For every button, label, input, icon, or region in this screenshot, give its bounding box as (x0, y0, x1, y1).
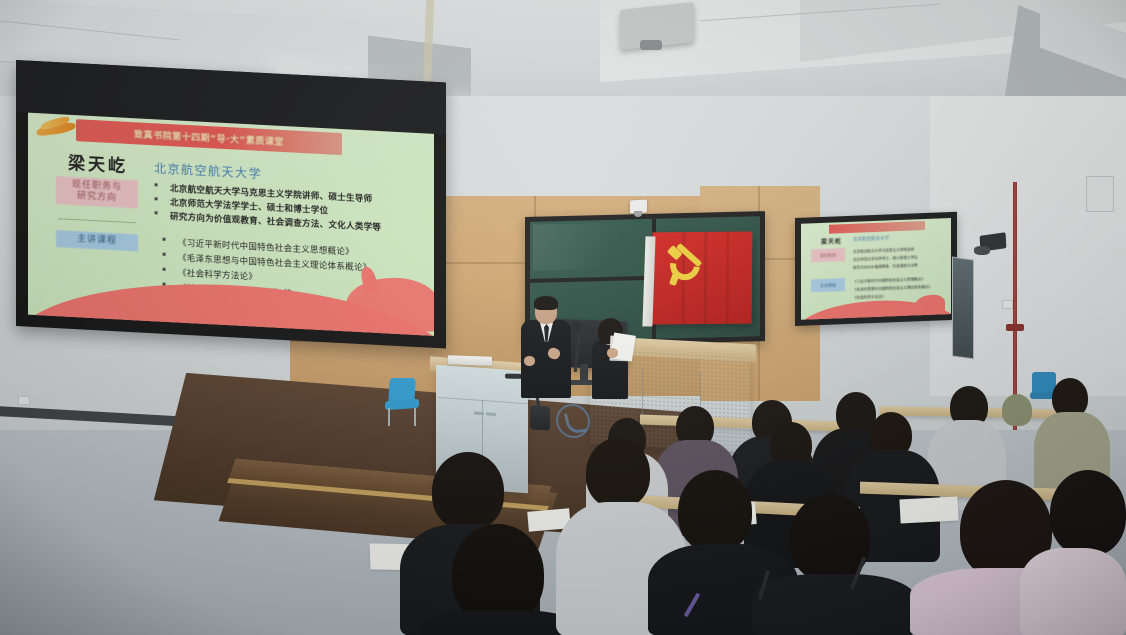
flag-hoist (642, 236, 655, 326)
chalkboard-glare (533, 222, 643, 271)
institution-logo-icon (34, 115, 78, 141)
secondary-projection-screen[interactable]: 梁天屹 北京航空航天大学 现任职务 主讲课程 北京航空航天大学马克思主义学院讲师… (795, 212, 957, 326)
secondary-slide-banner (829, 221, 925, 234)
lecture-hall-photo: 致真书院第十四期“导·大”素质课堂 梁天屹 北京航空航天大学 现任职务与 研究方… (0, 0, 1126, 635)
blue-chair[interactable] (385, 378, 419, 418)
slide-banner-text: 致真书院第十四期“导·大”素质课堂 (134, 127, 284, 148)
power-outlet (18, 396, 30, 406)
microphone-icon (572, 322, 581, 333)
slide-divider (58, 218, 136, 223)
power-outlet (1002, 300, 1013, 309)
secondary-speaker-affiliation: 北京航空航天大学 (853, 235, 889, 242)
secondary-tag-position: 现任职务 (811, 248, 845, 262)
secondary-course-bullet: 《习近平新时代中国特色社会主义思想概论》 (853, 277, 925, 285)
pipe-valve (1006, 324, 1024, 331)
tag-courses: 主讲课程 (56, 230, 138, 251)
secondary-slide-decoration (915, 294, 945, 313)
speaker-name: 梁天屹 (68, 149, 128, 177)
hammer-and-sickle-icon (666, 246, 708, 286)
secondary-course-bullet: 《毛泽东思想与中国特色社会主义理论体系概论》 (853, 285, 932, 293)
tag-position: 现任职务与 研究方向 (56, 176, 138, 208)
notebook-paper (899, 496, 958, 523)
slide-decoration-shape (346, 275, 434, 332)
wall-speaker-cone (974, 246, 990, 255)
presentation-slide: 致真书院第十四期“导·大”素质课堂 梁天屹 北京航空航天大学 现任职务与 研究方… (28, 113, 434, 336)
course-bullet: 《社会科学方法论》 (178, 266, 257, 282)
secondary-bio-bullet: 北京师范大学法学学士、硕士和博士学位 (853, 255, 918, 262)
camera-dome (634, 211, 642, 217)
book-on-cabinet (448, 355, 492, 366)
sprinkler-pipe (1013, 182, 1017, 430)
microphone-base (530, 405, 550, 430)
speaker-affiliation: 北京航空航天大学 (154, 159, 262, 182)
wall-window (952, 256, 974, 359)
projector-lens (640, 40, 662, 50)
party-flag (652, 232, 753, 325)
wall-panel-box (1086, 176, 1114, 212)
secondary-bio-bullet: 研究方向为价值观教育、社会调查方法等 (853, 263, 918, 270)
secondary-speaker-name: 梁天屹 (821, 236, 842, 246)
secondary-bio-bullet: 北京航空航天大学马克思主义学院讲师 (853, 247, 914, 254)
secondary-tag-courses: 主讲课程 (811, 278, 845, 292)
main-projection-screen[interactable]: 致真书院第十四期“导·大”素质课堂 梁天屹 北京航空航天大学 现任职务与 研究方… (16, 60, 446, 349)
secondary-slide: 梁天屹 北京航空航天大学 现任职务 主讲课程 北京航空航天大学马克思主义学院讲师… (801, 218, 951, 320)
